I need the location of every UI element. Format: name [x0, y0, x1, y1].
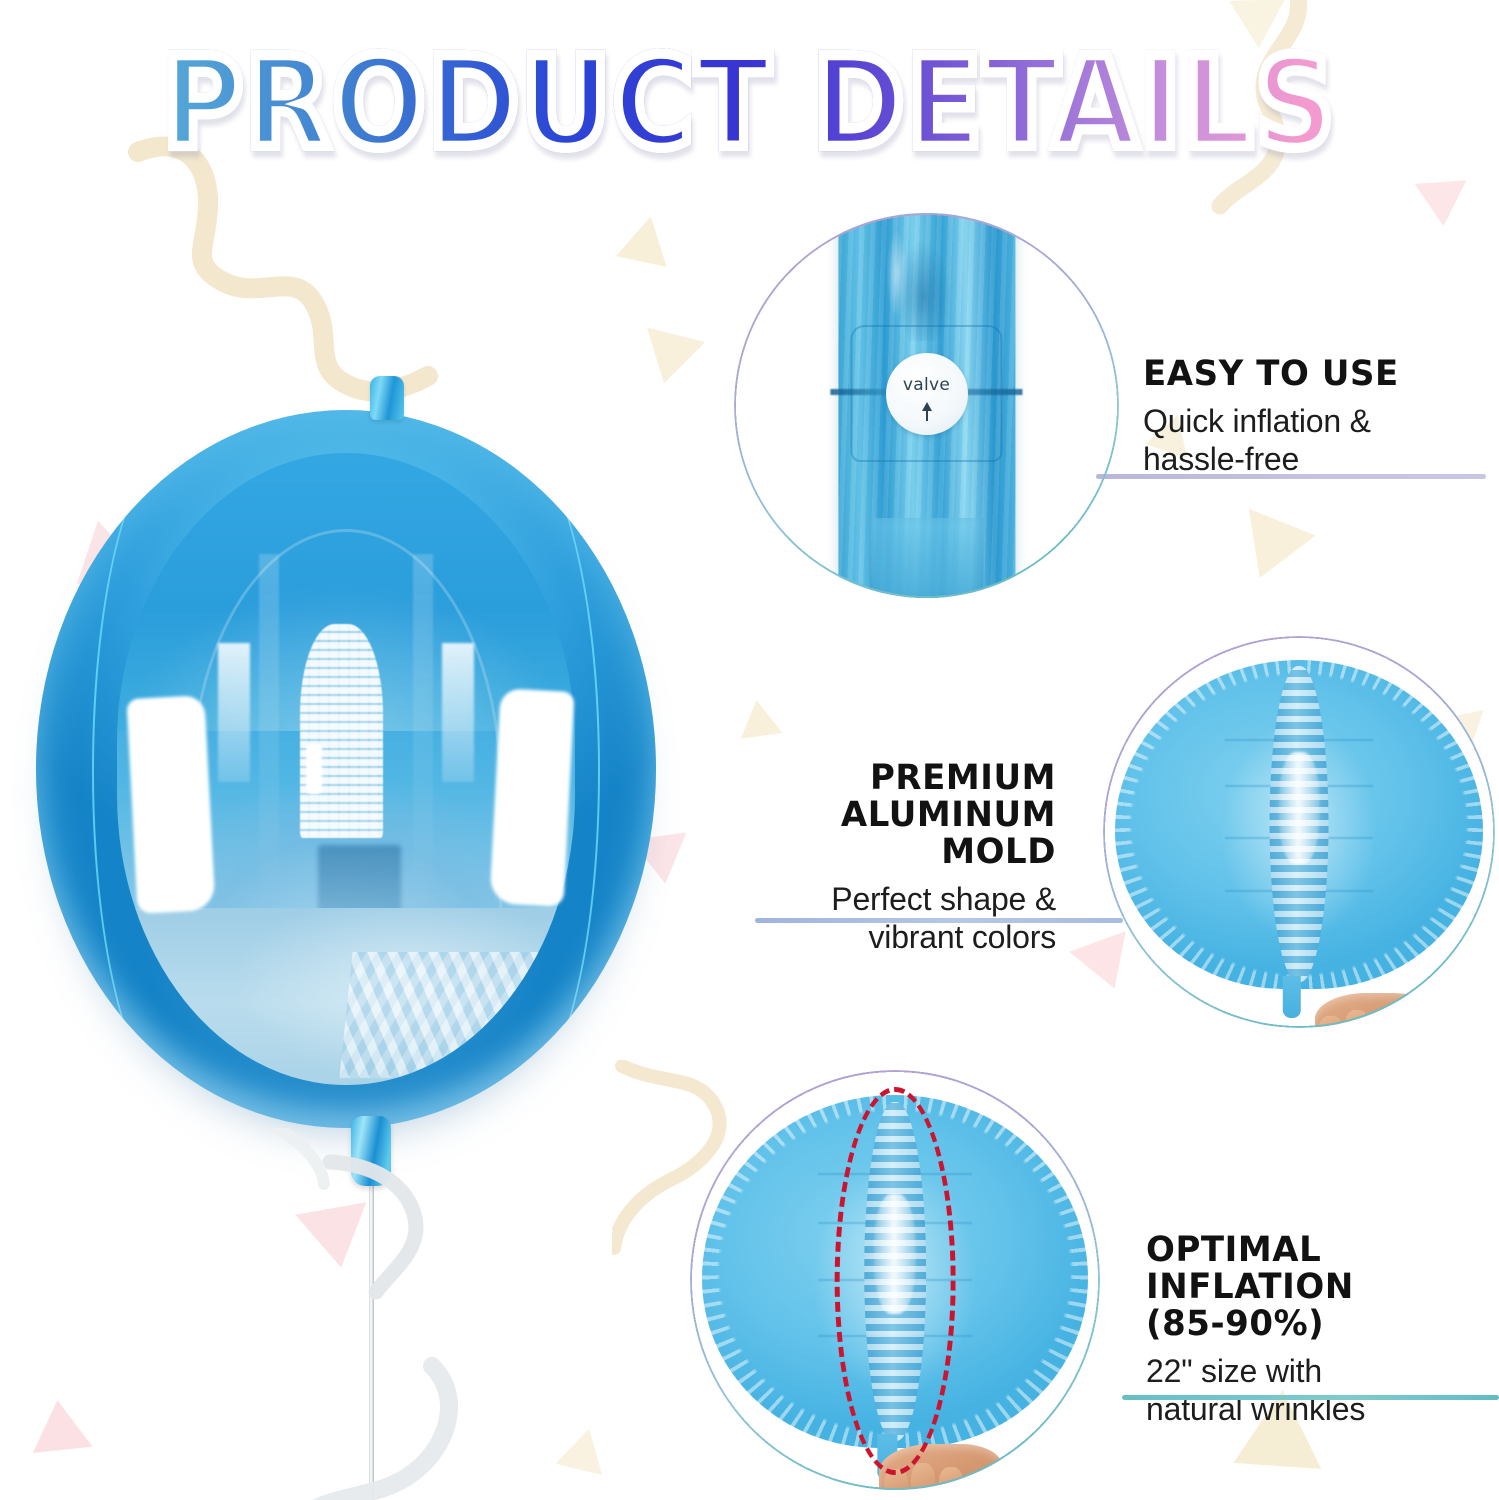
- detail-circle-mold: [1103, 636, 1495, 1028]
- hand-holding-balloon: [1315, 993, 1433, 1028]
- confetti-triangle-cream-10: [556, 1423, 613, 1475]
- hero-balloon-sphere: [36, 410, 656, 1128]
- hero-balloon: [18, 388, 678, 1148]
- confetti-triangle-cream-5: [736, 697, 783, 738]
- feature-divider-3: [1122, 1395, 1499, 1400]
- page-title-text: PRODUCT DETAILS: [162, 41, 1336, 166]
- feature-description-line1: 22" size with: [1146, 1353, 1491, 1391]
- feature-description: 22" size with natural wrinkles: [1146, 1353, 1491, 1429]
- confetti-triangle-cream-9: [1229, 0, 1287, 49]
- valve-sticker: valve: [886, 353, 968, 435]
- detail-circle-inflation: [690, 1070, 1100, 1490]
- page-title: PRODUCT DETAILS: [0, 34, 1499, 174]
- ribbon-streamer-top-right: [1060, 0, 1360, 240]
- confetti-triangle-cream-2: [635, 327, 705, 390]
- confetti-triangle-cream-1: [616, 211, 676, 267]
- hero-rim-glow: [36, 410, 656, 1128]
- feature-title-line1: PREMIUM: [717, 760, 1057, 797]
- feature-description-line2: vibrant colors: [706, 919, 1056, 957]
- valve-arrow-up-icon: [922, 402, 932, 411]
- feature-description: Quick inflation & hassle-free: [1143, 403, 1483, 479]
- infographic-canvas: PRODUCT DETAILS: [0, 0, 1499, 1500]
- feature-divider-1: [1096, 474, 1486, 479]
- feature-description-line1: Perfect shape &: [706, 881, 1056, 919]
- feature-description-line2: hassle-free: [1143, 441, 1483, 479]
- valve-label: valve: [903, 375, 950, 395]
- feature-divider-2: [755, 918, 1123, 923]
- confetti-triangle-cream-4: [1226, 509, 1315, 592]
- confetti-triangle-pink-3: [28, 1397, 93, 1453]
- wrinkle-highlight-ellipse: [835, 1087, 956, 1475]
- feature-title: EASY TO USE: [1143, 356, 1473, 393]
- balloon-ribbon-swirl: [218, 1128, 538, 1500]
- feature-premium-aluminum-mold: PREMIUM ALUMINUM MOLD Perfect shape & vi…: [706, 760, 1056, 957]
- feature-title-line1: OPTIMAL INFLATION: [1146, 1232, 1481, 1306]
- feature-description-line1: Quick inflation &: [1143, 403, 1483, 441]
- deflated-balloon-image: [1115, 660, 1483, 989]
- feature-easy-to-use: EASY TO USE Quick inflation & hassle-fre…: [1143, 356, 1483, 479]
- detail-circle-valve: valve: [734, 213, 1119, 598]
- feature-title-line2: ALUMINUM MOLD: [717, 797, 1057, 871]
- feature-title-line2: (85-90%): [1146, 1306, 1481, 1343]
- hero-balloon-top-tab: [370, 376, 404, 420]
- confetti-triangle-pink-4: [1415, 180, 1470, 228]
